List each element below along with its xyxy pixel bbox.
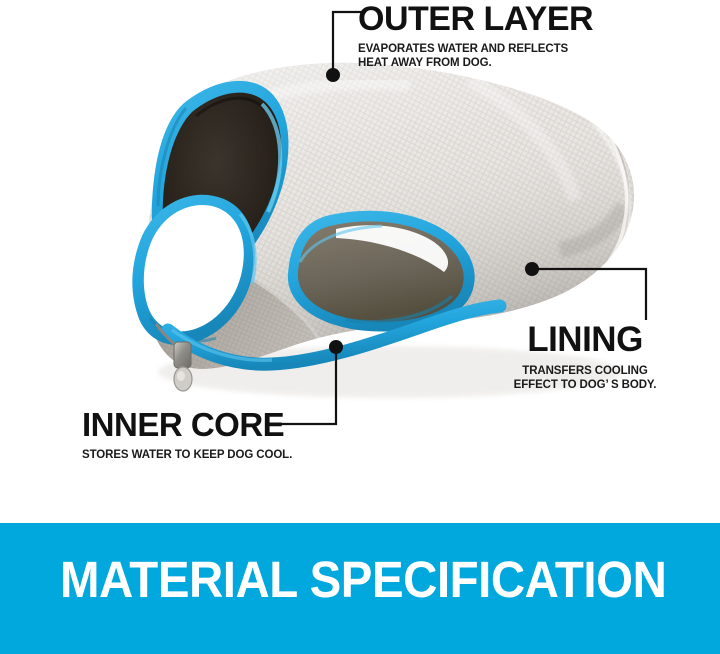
callout-title-lining: LINING: [487, 322, 683, 357]
product-infographic: OUTER LAYER EVAPORATES WATER AND REFLECT…: [0, 0, 720, 654]
zipper-slider: [174, 342, 191, 368]
callout-subtitle-inner-core: STORES WATER TO KEEP DOG COOL.: [82, 449, 292, 463]
callout-outer-layer: OUTER LAYER EVAPORATES WATER AND REFLECT…: [358, 2, 593, 70]
callout-title-inner-core: INNER CORE: [82, 408, 292, 441]
banner-title: MATERIAL SPECIFICATION: [60, 552, 666, 608]
callout-title-outer-layer: OUTER LAYER: [358, 2, 593, 36]
callout-lining: LINING TRANSFERS COOLING EFFECT TO DOG’ …: [487, 322, 683, 392]
callout-inner-core: INNER CORE STORES WATER TO KEEP DOG COOL…: [82, 408, 292, 463]
callout-subtitle-lining: TRANSFERS COOLING EFFECT TO DOG’ S BODY.: [487, 365, 683, 392]
product-photo: OUTER LAYER EVAPORATES WATER AND REFLECT…: [0, 0, 720, 523]
callout-subtitle-outer-layer: EVAPORATES WATER AND REFLECTS HEAT AWAY …: [358, 43, 593, 70]
